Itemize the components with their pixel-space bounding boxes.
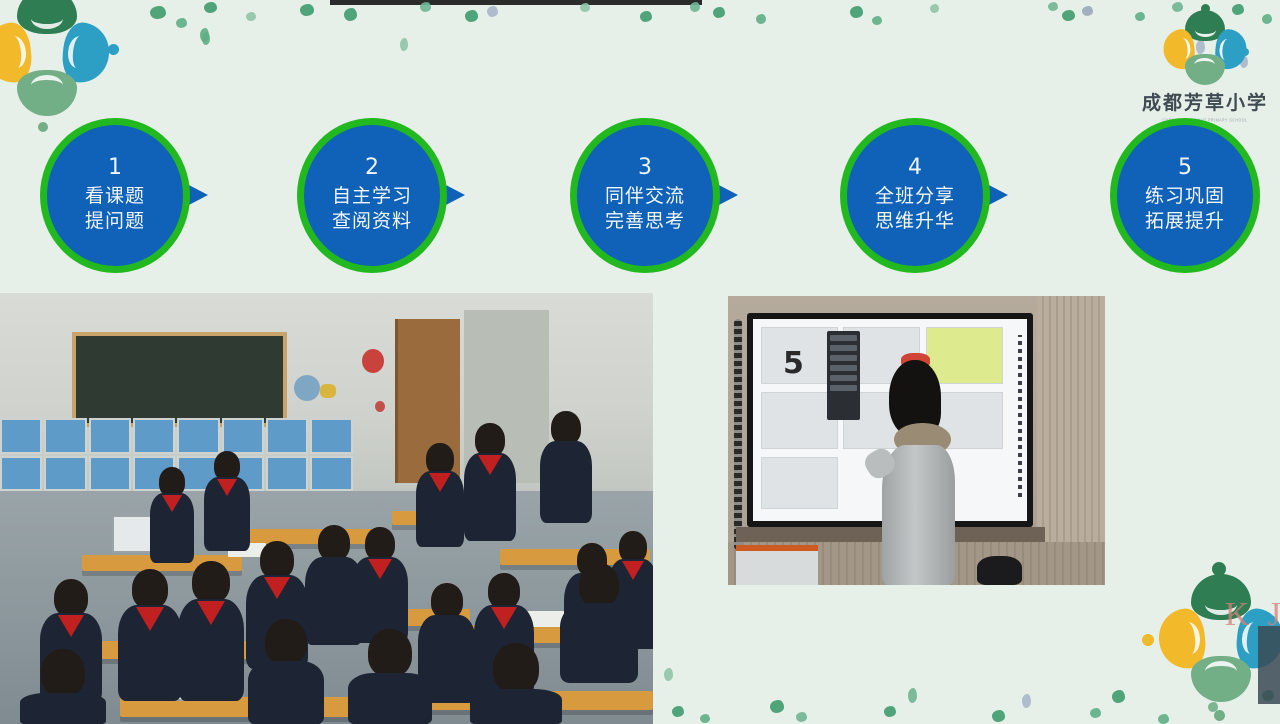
flow-step-2-line2: 查阅资料 <box>332 209 412 234</box>
flow-step-2-line1: 自主学习 <box>332 184 412 209</box>
flow-step-1-oval: 1 看课题 提问题 <box>40 118 190 273</box>
flow-step-3-number: 3 <box>638 157 652 179</box>
school-logo-name: 成都芳草小学 <box>1140 88 1270 115</box>
classroom-photo <box>0 293 653 724</box>
flow-step-4[interactable]: 4 全班分享 思维升华 <box>840 118 990 273</box>
flow-step-1[interactable]: 1 看课题 提问题 <box>40 118 190 273</box>
flow-step-3-line1: 同伴交流 <box>605 184 685 209</box>
flow-step-5-line1: 练习巩固 <box>1145 184 1225 209</box>
flow-step-3-oval: 3 同伴交流 完善思考 <box>570 118 720 273</box>
flow-step-3-line2: 完善思考 <box>605 209 685 234</box>
flow-step-4-line1: 全班分享 <box>875 184 955 209</box>
flow-step-1-number: 1 <box>108 157 122 179</box>
student-figure <box>875 360 962 585</box>
flow-step-5-oval: 5 练习巩固 拓展提升 <box>1110 118 1260 273</box>
watermark-bar <box>1258 626 1280 704</box>
flow-step-1-line2: 提问题 <box>85 209 145 234</box>
whiteboard-photo: 5 <box>728 296 1105 585</box>
flow-step-4-number: 4 <box>908 157 922 179</box>
flow-step-3[interactable]: 3 同伴交流 完善思考 <box>570 118 720 273</box>
flow-step-5-line2: 拓展提升 <box>1145 209 1225 234</box>
school-logo-mark-icon <box>1159 8 1251 86</box>
flow-step-2-number: 2 <box>365 157 379 179</box>
process-flow-diagram: 1 看课题 提问题 2 自主学习 查阅资料 3 同伴交流 完善思考 <box>0 118 1280 273</box>
flow-step-2[interactable]: 2 自主学习 查阅资料 <box>297 118 447 273</box>
top-dark-bar <box>330 0 702 5</box>
flow-step-1-line1: 看课题 <box>85 184 145 209</box>
whiteboard-toolbar[interactable] <box>827 331 860 420</box>
flow-step-4-oval: 4 全班分享 思维升华 <box>840 118 990 273</box>
whiteboard-number: 5 <box>783 346 804 381</box>
flow-step-4-line2: 思维升华 <box>875 209 955 234</box>
flow-step-5-number: 5 <box>1178 157 1192 179</box>
flow-step-5[interactable]: 5 练习巩固 拓展提升 <box>1110 118 1260 273</box>
slide-canvas: 成都芳草小学 CHENGDU FANGCAO PRIMARY SCHOOL 1 … <box>0 0 1280 724</box>
flow-step-2-oval: 2 自主学习 查阅资料 <box>297 118 447 273</box>
school-logo: 成都芳草小学 CHENGDU FANGCAO PRIMARY SCHOOL <box>1140 8 1270 122</box>
top-left-pinwheel-icon <box>0 0 122 132</box>
